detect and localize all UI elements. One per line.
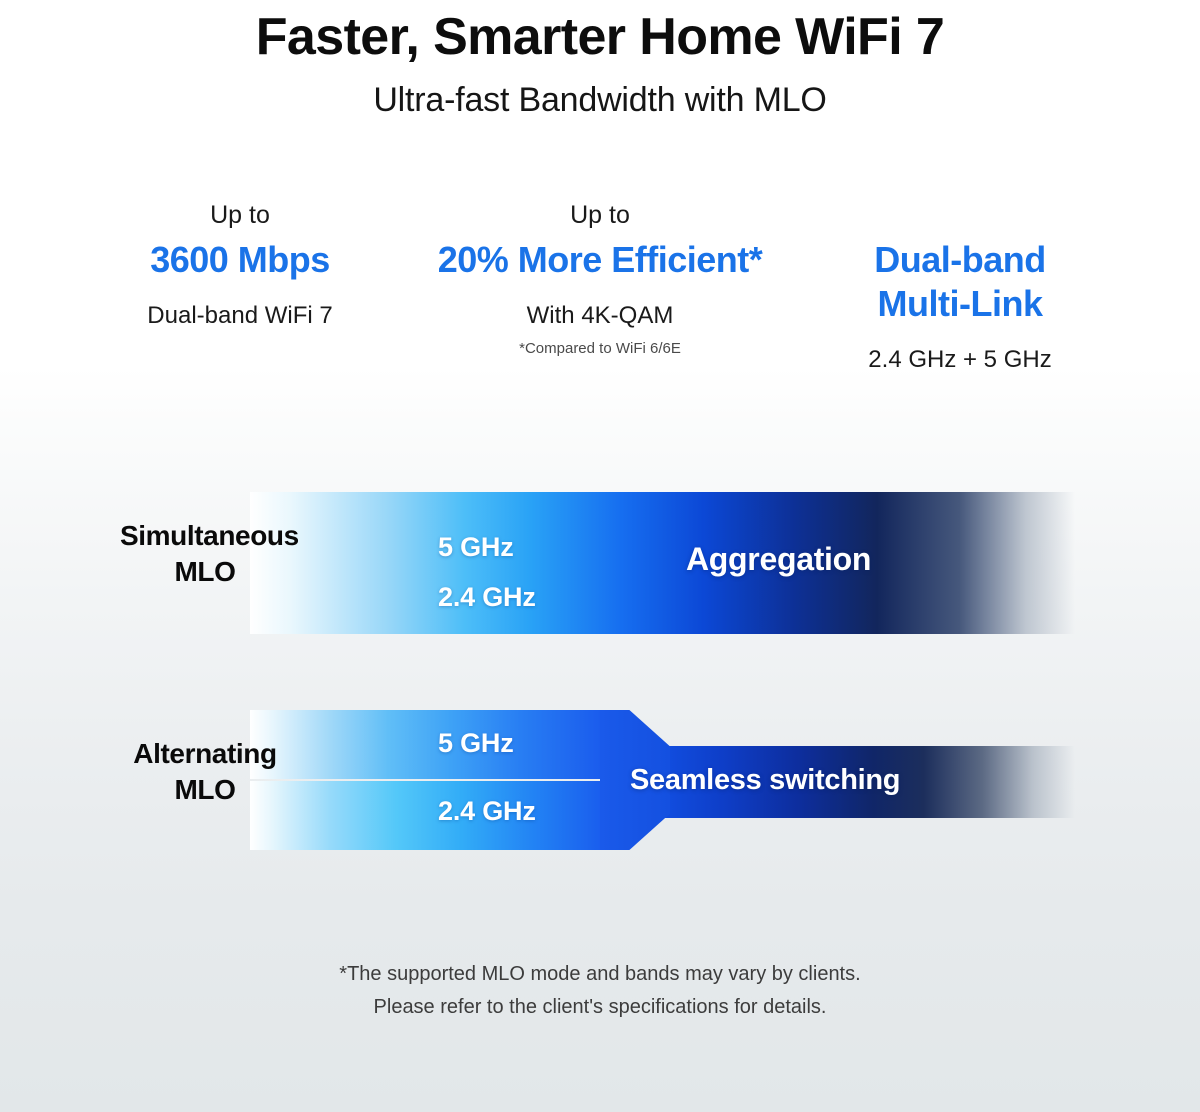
stat-prefix: Up to: [426, 198, 774, 232]
promo-page: Faster, Smarter Home WiFi 7 Ultra-fast B…: [0, 0, 1200, 1112]
page-title: Faster, Smarter Home WiFi 7: [0, 0, 1200, 70]
stat-value: 3600 Mbps: [66, 232, 414, 282]
diagram-caption: Seamless switching: [630, 760, 900, 800]
stat-value: 20% More Efficient*: [426, 232, 774, 282]
stat-prefix: Up to: [66, 198, 414, 232]
stat-card-multilink: Dual-band Multi-Link 2.4 GHz + 5 GHz: [780, 198, 1140, 376]
band-label-5ghz: 5 GHz: [438, 726, 514, 760]
split-band-bars: [250, 710, 615, 850]
diagram-simultaneous-mlo: Simultaneous MLO 5 GHz 2.4 GHz Aggregati…: [0, 492, 1200, 634]
diagram-caption: Aggregation: [686, 538, 871, 580]
band-label-5ghz: 5 GHz: [438, 530, 514, 564]
aggregated-band-bar: [250, 492, 1075, 634]
band-label-24ghz: 2.4 GHz: [438, 794, 536, 828]
footer-line-1: *The supported MLO mode and bands may va…: [0, 958, 1200, 991]
diagram-alternating-mlo: Alternating MLO 5 GHz 2.4 GHz Seamless s…: [0, 706, 1200, 852]
diagram-label: Simultaneous MLO: [120, 518, 290, 590]
stat-footnote: *Compared to WiFi 6/6E: [426, 332, 774, 360]
stat-caption: 2.4 GHz + 5 GHz: [786, 326, 1134, 376]
footer-disclaimer: *The supported MLO mode and bands may va…: [0, 958, 1200, 1024]
stat-value: Dual-band Multi-Link: [845, 232, 1075, 326]
diagram-label: Alternating MLO: [120, 736, 290, 808]
footer-line-2: Please refer to the client's specificati…: [0, 991, 1200, 1024]
stat-caption: With 4K-QAM: [426, 282, 774, 332]
band-label-24ghz: 2.4 GHz: [438, 580, 536, 614]
page-subtitle: Ultra-fast Bandwidth with MLO: [0, 70, 1200, 122]
band-bar-5ghz: [250, 710, 615, 779]
stat-card-bandwidth: Up to 3600 Mbps Dual-band WiFi 7: [60, 198, 420, 332]
stat-card-efficiency: Up to 20% More Efficient* With 4K-QAM *C…: [420, 198, 780, 360]
stats-row: Up to 3600 Mbps Dual-band WiFi 7 Up to 2…: [60, 198, 1140, 376]
stat-caption: Dual-band WiFi 7: [66, 282, 414, 332]
band-bar-24ghz: [250, 781, 615, 850]
header: Faster, Smarter Home WiFi 7 Ultra-fast B…: [0, 0, 1200, 122]
